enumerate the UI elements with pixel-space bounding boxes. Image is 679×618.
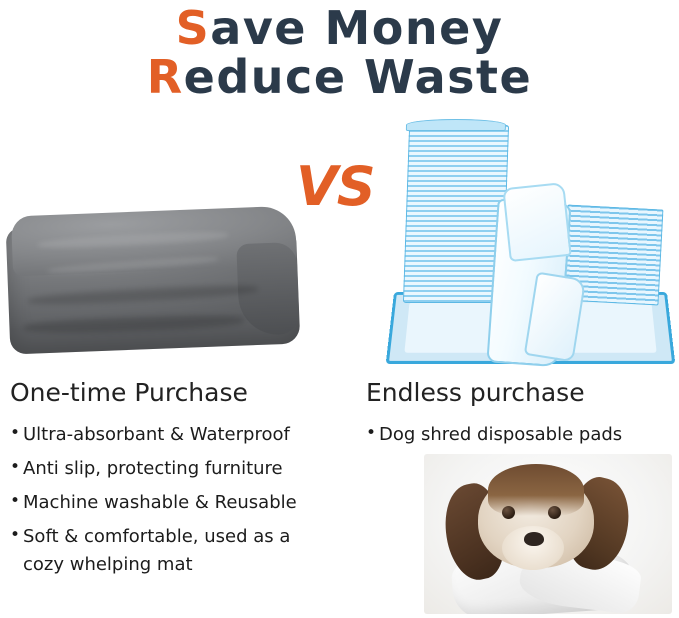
headline: Save Money Reduce Waste xyxy=(0,4,679,102)
puppy-eye-left xyxy=(502,506,515,519)
right-bullet-list: Dog shred disposable pads xyxy=(366,421,671,449)
left-column-title: One-time Purchase xyxy=(10,378,360,407)
list-item: Anti slip, protecting furniture xyxy=(10,455,360,483)
product-comparison-graphic: Save Money Reduce Waste VS One-time Purc… xyxy=(0,0,679,618)
puppy-eye-right xyxy=(548,506,561,519)
headline-line-2: Reduce Waste xyxy=(0,53,679,102)
list-item: Ultra-absorbant & Waterproof xyxy=(10,421,360,449)
headline-line-1-accent-letter: S xyxy=(176,1,211,55)
headline-line-1-text: ave Money xyxy=(210,1,503,55)
list-item: Soft & comfortable, used as a xyxy=(10,523,360,551)
left-column: One-time Purchase Ultra-absorbant & Wate… xyxy=(10,378,360,584)
blanket-image xyxy=(8,205,298,365)
list-item-continuation: cozy whelping mat xyxy=(10,551,360,579)
list-item: Machine washable & Reusable xyxy=(10,489,360,517)
pad-stack-top-sheet xyxy=(406,119,506,131)
puppy-photo xyxy=(424,454,672,614)
left-bullet-list: Ultra-absorbant & Waterproof Anti slip, … xyxy=(10,421,360,578)
headline-line-1: Save Money xyxy=(0,4,679,53)
right-column: Endless purchase Dog shred disposable pa… xyxy=(366,378,671,455)
pad-draped-sheet-upper xyxy=(502,182,571,262)
versus-label: VS xyxy=(296,155,375,218)
right-column-title: Endless purchase xyxy=(366,378,671,407)
headline-line-2-text: educe Waste xyxy=(184,50,533,104)
puppy-nose xyxy=(524,532,544,546)
disposable-pads-image xyxy=(380,125,670,365)
list-item: Dog shred disposable pads xyxy=(366,421,671,449)
headline-line-2-accent-letter: R xyxy=(147,50,184,104)
